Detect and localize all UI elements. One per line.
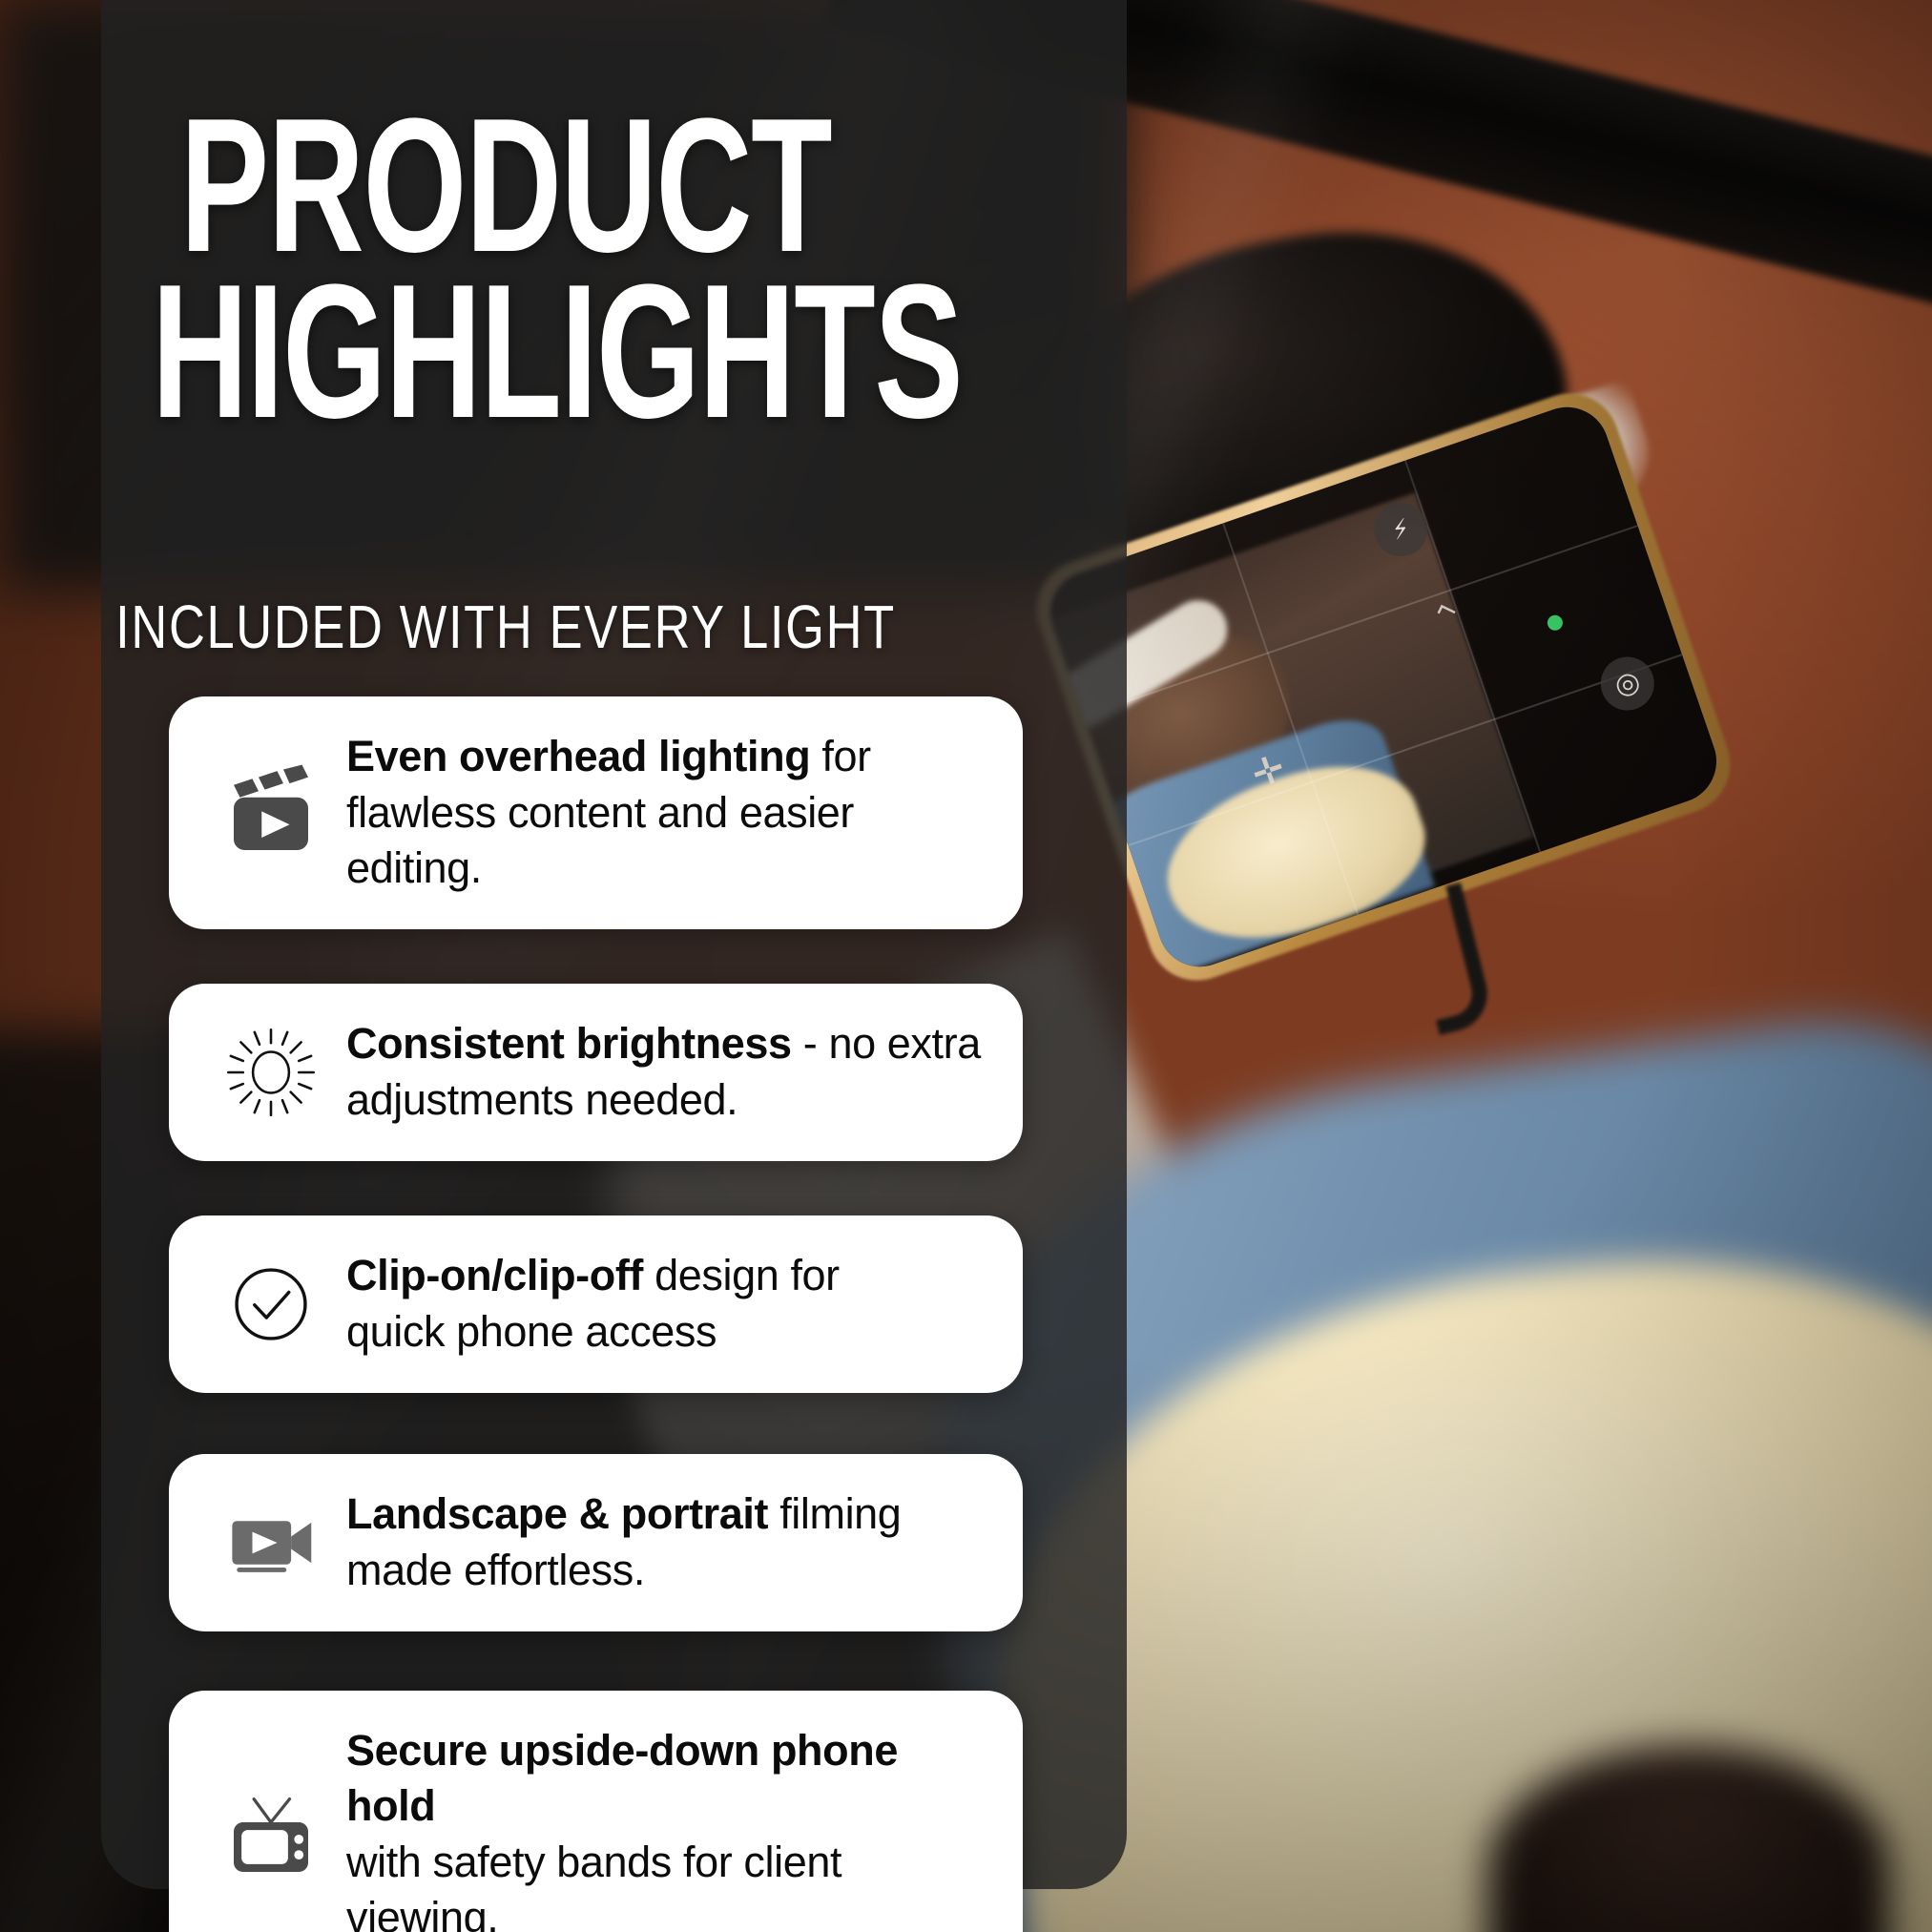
feature-text: Secure upside-down phone hold with safet…	[346, 1723, 985, 1932]
page-title: PRODUCT HIGHLIGHTS	[152, 103, 860, 435]
feature-text: Even overhead lighting for flawless cont…	[346, 729, 985, 897]
feature-rest: for	[810, 732, 870, 780]
feature-text: Clip-on/clip-off design for quick phone …	[346, 1248, 840, 1360]
retro-tv-icon	[215, 1778, 327, 1891]
feature-card[interactable]: Consistent brightness - no extra adjustm…	[169, 984, 1023, 1161]
feature-text: Consistent brightness - no extra adjustm…	[346, 1016, 981, 1128]
title-line-2: HIGHLIGHTS	[152, 269, 860, 435]
product-highlights-graphic: ⌐ ✛ PRODUCT HIGHLIGHTS INCLUDED WITH EVE…	[0, 0, 1932, 1932]
page-subtitle: INCLUDED WITH EVERY LIGHT	[91, 592, 920, 662]
panel-content: PRODUCT HIGHLIGHTS INCLUDED WITH EVERY L…	[0, 0, 1069, 1932]
feature-card-list: Even overhead lighting for flawless cont…	[169, 696, 1023, 1932]
feature-line2: made effortless.	[346, 1546, 645, 1594]
feature-bold: Consistent brightness	[346, 1019, 792, 1068]
feature-card[interactable]: Secure upside-down phone hold with safet…	[169, 1691, 1023, 1932]
feature-bold: Even overhead lighting	[346, 732, 810, 780]
feature-line2: with safety bands for client viewing.	[346, 1838, 841, 1932]
feature-line2: flawless content and easier editing.	[346, 788, 854, 893]
clapperboard-play-icon	[215, 757, 327, 869]
feature-card[interactable]: Even overhead lighting for flawless cont…	[169, 696, 1023, 929]
feature-rest: filming	[768, 1489, 901, 1538]
video-camera-icon	[215, 1486, 327, 1599]
feature-rest: design for	[643, 1251, 840, 1299]
feature-card[interactable]: Clip-on/clip-off design for quick phone …	[169, 1215, 1023, 1393]
feature-bold: Secure upside-down phone hold	[346, 1726, 898, 1831]
feature-rest: - no extra	[792, 1019, 981, 1068]
circle-check-icon	[215, 1248, 327, 1361]
feature-card[interactable]: Landscape & portrait filming made effort…	[169, 1454, 1023, 1631]
feature-bold: Clip-on/clip-off	[346, 1251, 643, 1299]
sun-brightness-icon	[215, 1016, 327, 1129]
feature-bold: Landscape & portrait	[346, 1489, 768, 1538]
feature-line2: quick phone access	[346, 1307, 717, 1356]
feature-line2: adjustments needed.	[346, 1075, 737, 1124]
feature-text: Landscape & portrait filming made effort…	[346, 1486, 901, 1598]
